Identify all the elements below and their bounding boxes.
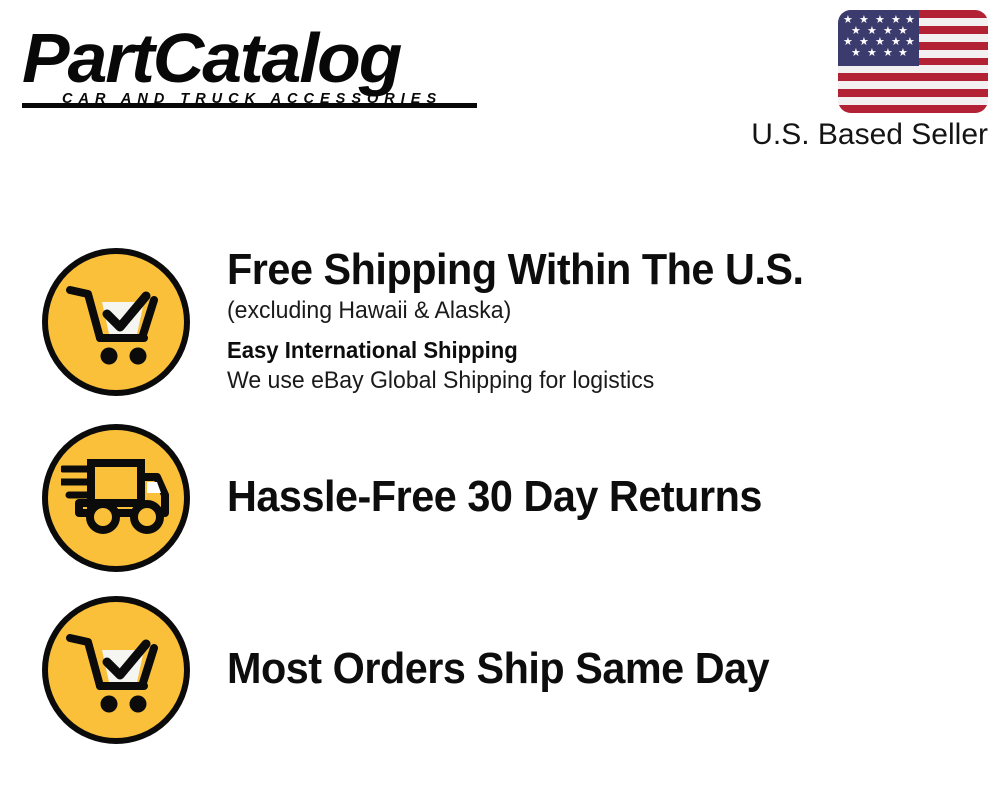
shopping-cart-check-icon [42,248,190,396]
brand-wordmark: PartCatalog [22,26,501,90]
feature-title: Free Shipping Within The U.S. [227,245,954,295]
feature-sub-heading: Easy International Shipping [227,335,969,365]
feature-text: Most Orders Ship Same Day [227,644,1000,696]
shopping-cart-check-icon [42,596,190,744]
feature-row: Hassle-Free 30 Day Returns [0,412,1000,584]
seller-label: U.S. Based Seller [713,118,988,152]
feature-sub-detail: We use eBay Global Shipping for logistic… [227,365,969,397]
flag-canton: ★ ★ ★ ★ ★ ★ ★ ★ ★ ★ ★ ★ ★ ★ ★ ★ ★ ★ [838,10,919,66]
feature-row: Most Orders Ship Same Day [0,584,1000,756]
feature-text: Hassle-Free 30 Day Returns [227,472,1000,524]
brand-underline-rule [22,103,477,108]
delivery-truck-icon [42,424,190,572]
brand-logo[interactable]: PartCatalog CAR AND TRUCK ACCESSORIES [22,26,492,107]
seller-badge: ★ ★ ★ ★ ★ ★ ★ ★ ★ ★ ★ ★ ★ ★ ★ ★ ★ ★ U.S.… [713,10,988,152]
page-header: PartCatalog CAR AND TRUCK ACCESSORIES ★ … [0,0,1000,170]
us-flag-icon: ★ ★ ★ ★ ★ ★ ★ ★ ★ ★ ★ ★ ★ ★ ★ ★ ★ ★ [838,10,988,113]
feature-title: Hassle-Free 30 Day Returns [227,472,954,522]
feature-title: Most Orders Ship Same Day [227,644,954,694]
feature-row: Free Shipping Within The U.S. (excluding… [0,232,1000,412]
feature-subtitle: (excluding Hawaii & Alaska) [227,295,969,327]
feature-text: Free Shipping Within The U.S. (excluding… [227,245,1000,399]
